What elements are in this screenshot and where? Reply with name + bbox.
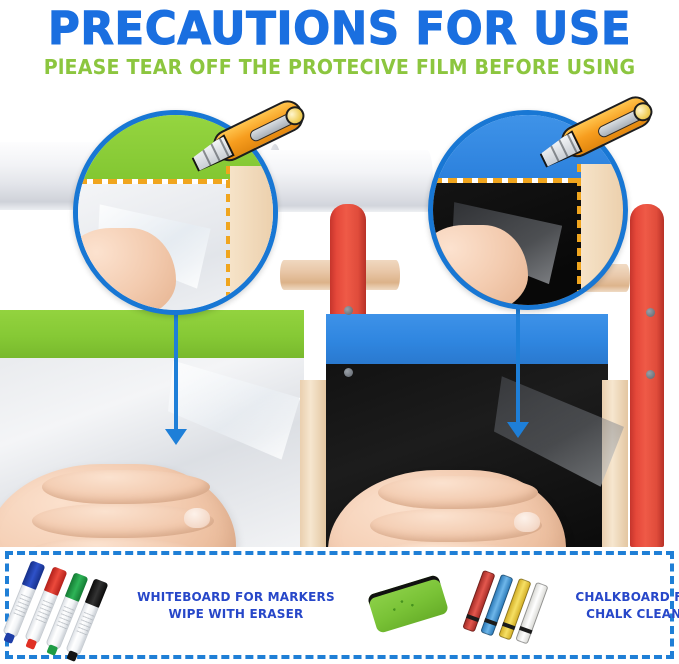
product-photo-scene — [0, 92, 679, 547]
legend-line-2: WIPE WITH ERASER — [137, 605, 335, 622]
legend-line-2: CHALK CLEAN WITH CLOTH — [575, 605, 679, 622]
callout-leader-line-left — [174, 305, 178, 435]
callout-side-cut-line — [226, 166, 230, 310]
legend-item-chalkboard: CHALKBOARD FOR DUST FREE CHALK CLEAN WIT… — [475, 555, 679, 655]
legend-item-eraser — [363, 555, 449, 655]
header: PRECAUTIONS FOR USE PlEASE TEAR OFF THE … — [0, 0, 679, 92]
callout-leader-line-right — [516, 300, 520, 428]
screw-icon — [344, 368, 353, 377]
callout-hand — [428, 225, 528, 310]
legend-line-1: CHALKBOARD FOR DUST FREE — [575, 588, 679, 605]
paper-roll-middle — [258, 150, 433, 212]
screw-icon — [646, 308, 655, 317]
callout-wood-edge — [230, 166, 273, 310]
fingernail — [184, 508, 210, 528]
page-title: PRECAUTIONS FOR USE — [10, 4, 669, 54]
screw-icon — [646, 370, 655, 379]
wood-frame-left — [300, 380, 326, 547]
whiteboard-markers-icon — [17, 555, 129, 655]
blue-trim-band — [326, 314, 608, 364]
callout-arrow-right — [507, 422, 529, 438]
fingernail — [514, 512, 540, 532]
legend-line-1: WHITEBOARD FOR MARKERS — [137, 588, 335, 605]
callout-wood-edge — [581, 164, 623, 305]
legend-item-whiteboard: WHITEBOARD FOR MARKERS WIPE WITH ERASER — [17, 555, 339, 655]
legend-panel: WHITEBOARD FOR MARKERS WIPE WITH ERASER … — [5, 551, 674, 659]
callout-arrow-left — [165, 429, 187, 445]
board-gap — [304, 310, 328, 366]
screw-icon — [344, 306, 353, 315]
legend-label-whiteboard: WHITEBOARD FOR MARKERS WIPE WITH ERASER — [137, 588, 335, 622]
eraser-icon — [363, 562, 449, 648]
chalk-sticks-icon — [475, 560, 567, 650]
green-trim-band — [0, 310, 309, 358]
callout-side-cut-line — [577, 164, 581, 305]
legend-label-chalkboard: CHALKBOARD FOR DUST FREE CHALK CLEAN WIT… — [575, 588, 679, 622]
infographic-page: PRECAUTIONS FOR USE PlEASE TEAR OFF THE … — [0, 0, 679, 664]
page-subtitle: PlEASE TEAR OFF THE PROTECIVE FILM BEFOR… — [17, 55, 662, 79]
callout-hand — [73, 228, 176, 315]
